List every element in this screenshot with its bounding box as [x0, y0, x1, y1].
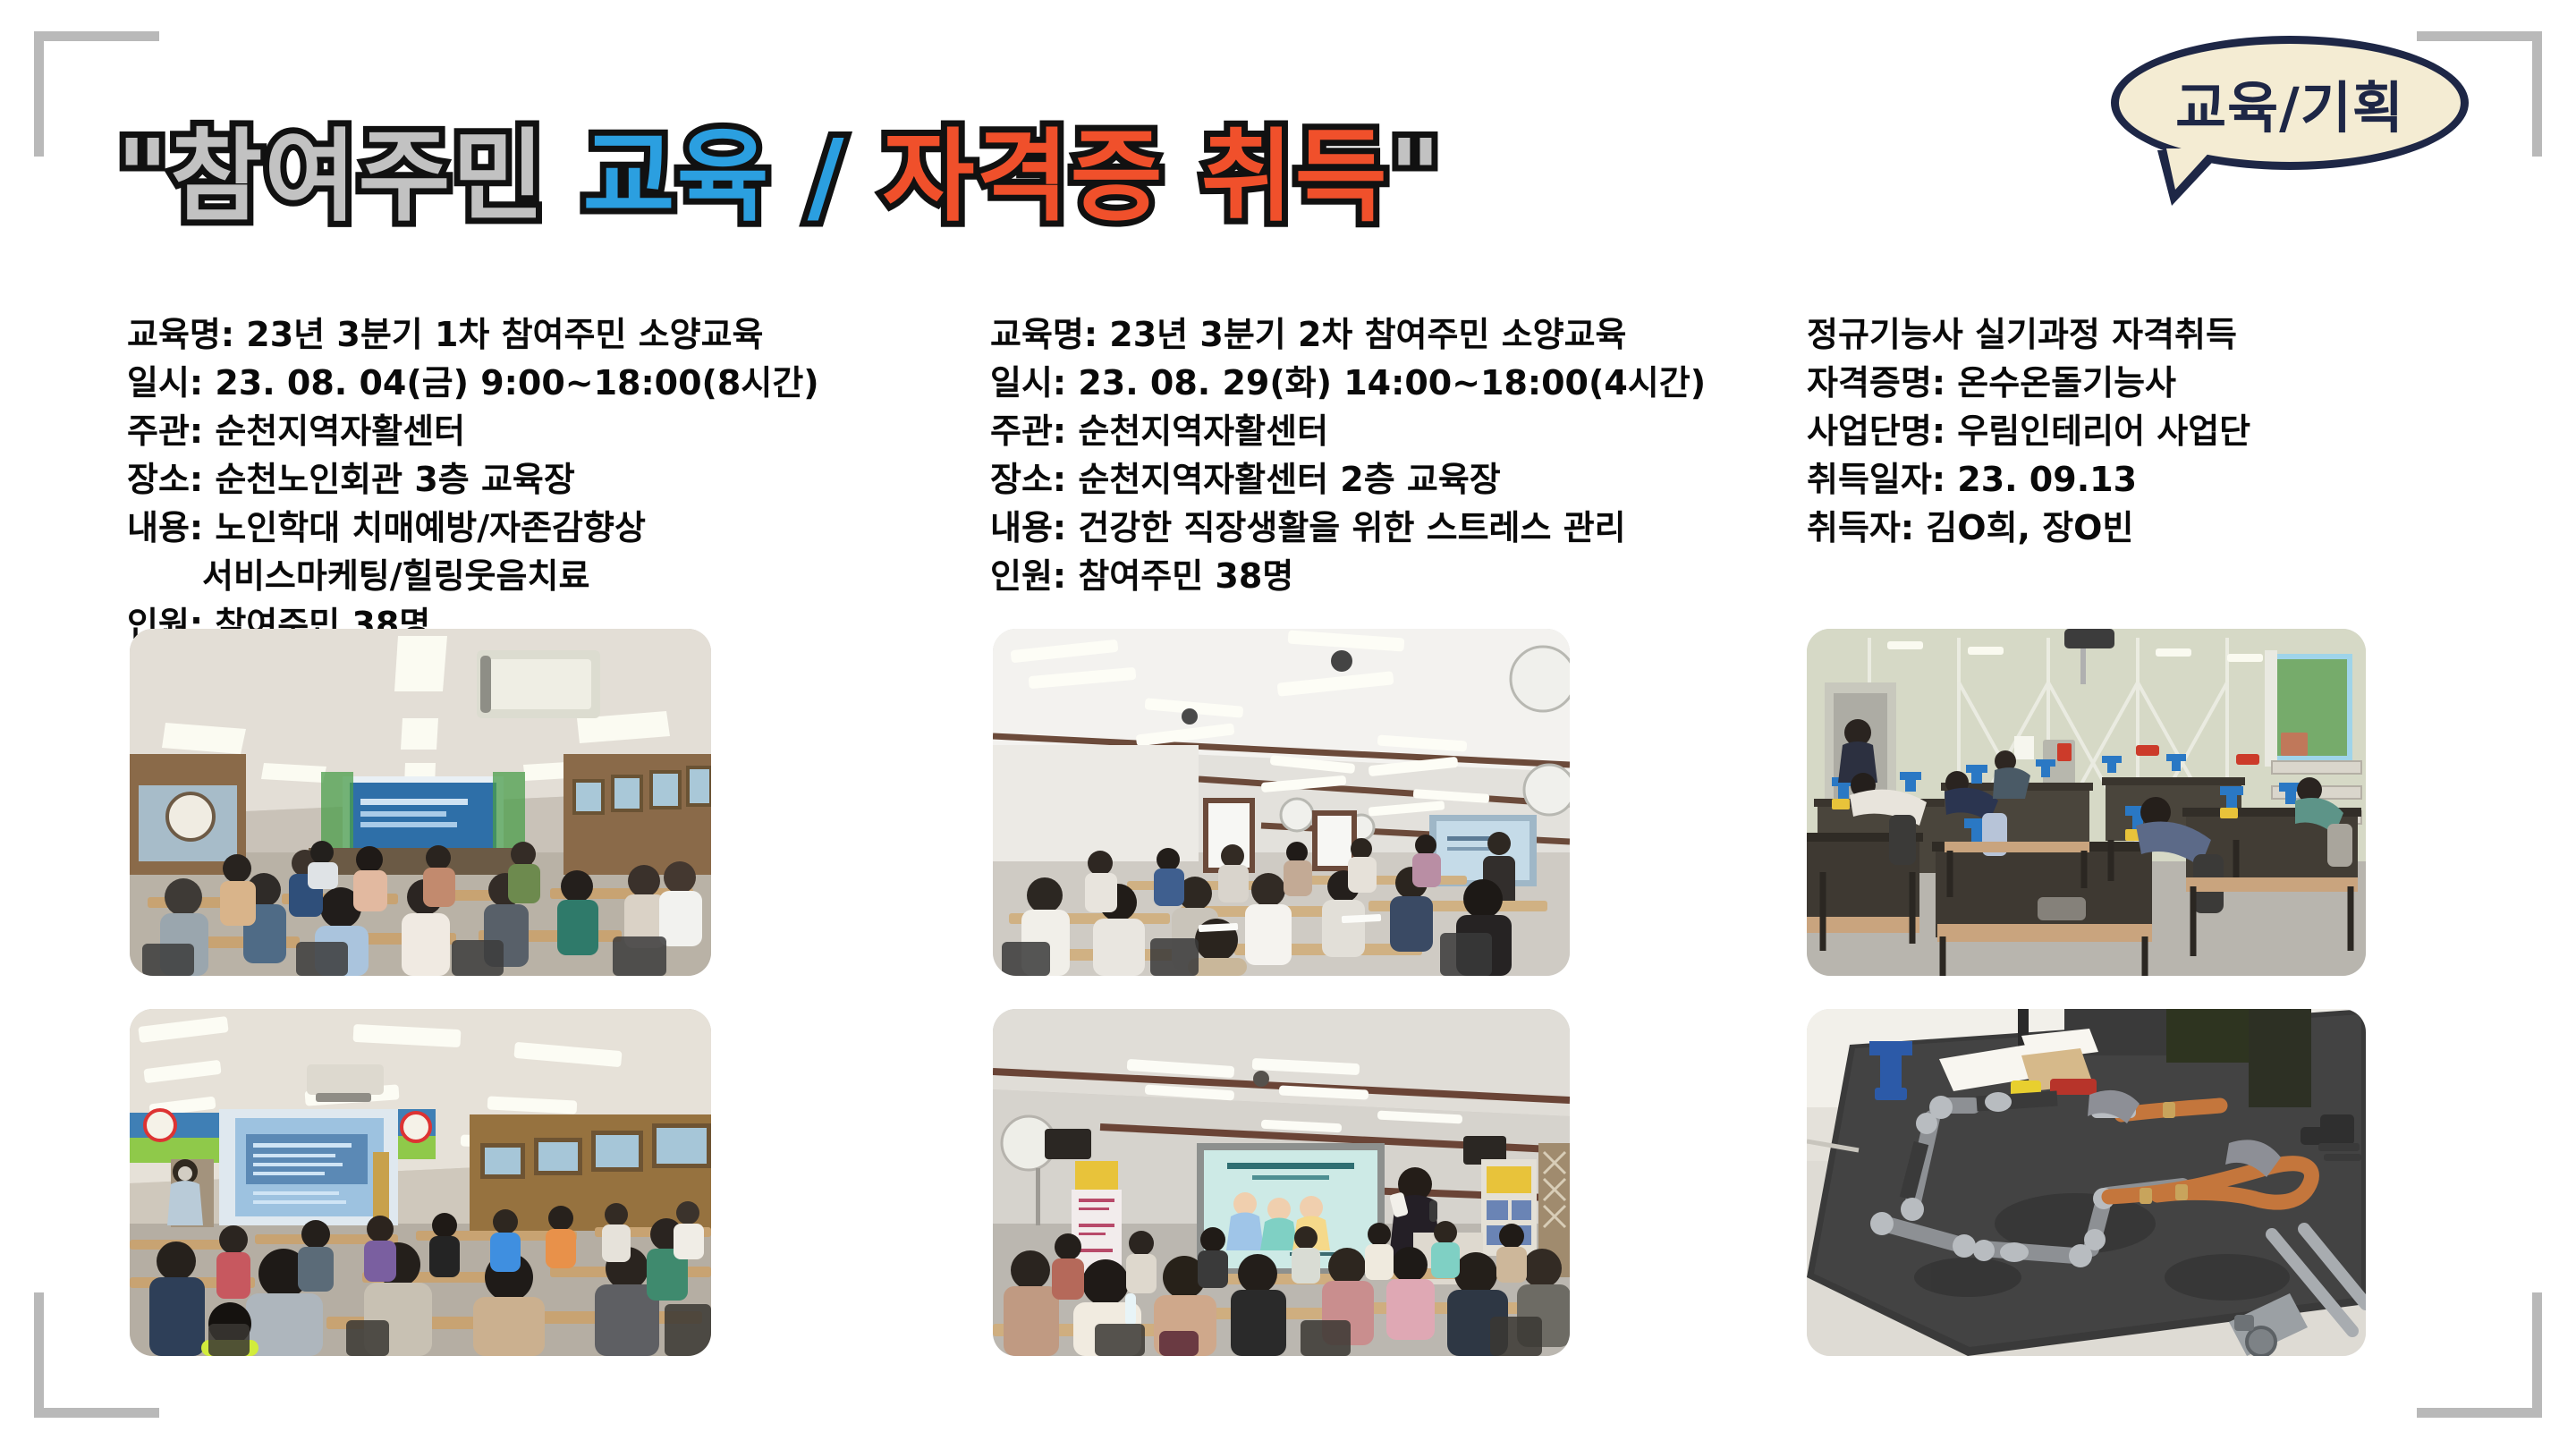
title-separator-slash: /	[808, 125, 846, 231]
info-line: 교육명: 23년 3분기 2차 참여주민 소양교육	[990, 311, 1795, 360]
info-block-column-2: 교육명: 23년 3분기 2차 참여주민 소양교육 일시: 23. 08. 29…	[990, 311, 1795, 601]
title-part-gray: 참여주민	[170, 125, 546, 231]
info-line: 주관: 순천지역자활센터	[990, 408, 1795, 456]
info-line: 주관: 순천지역자활센터	[127, 408, 932, 456]
info-line: 자격증명: 온수온돌기능사	[1807, 360, 2540, 408]
photo-classroom-lecture-wide	[130, 629, 711, 976]
info-line: 취득자: 김O희, 장O빈	[1807, 504, 2540, 553]
speech-bubble-tail-fill	[2166, 148, 2213, 190]
info-line: 취득일자: 23. 09.13	[1807, 456, 2540, 504]
slide-title: "참여주민 교육 / 자격증 취득"	[116, 125, 1443, 231]
title-part-blue: 교육	[583, 125, 771, 231]
info-line: 일시: 23. 08. 29(화) 14:00~18:00(4시간)	[990, 360, 1795, 408]
info-line: 장소: 순천지역자활센터 2층 교육장	[990, 456, 1795, 504]
info-line: 일시: 23. 08. 04(금) 9:00~18:00(8시간)	[127, 360, 932, 408]
info-line-continuation: 서비스마케팅/힐링웃음치료	[127, 553, 932, 601]
info-block-column-1: 교육명: 23년 3분기 1차 참여주민 소양교육 일시: 23. 08. 04…	[127, 311, 932, 649]
photo-stress-management-lecture	[993, 1009, 1570, 1356]
category-badge-label: 교육/기획	[2175, 63, 2404, 143]
info-line: 내용: 노인학대 치매예방/자존감향상	[127, 504, 932, 553]
category-badge: 교육/기획	[2111, 36, 2469, 206]
photo-pipe-fitting-practice	[1807, 1009, 2366, 1356]
info-line: 인원: 참여주민 38명	[990, 553, 1795, 601]
info-line: 교육명: 23년 3분기 1차 참여주민 소양교육	[127, 311, 932, 360]
info-line: 사업단명: 우림인테리어 사업단	[1807, 408, 2540, 456]
photo-practical-workshop-benches	[1807, 629, 2366, 976]
title-open-quote: "	[116, 125, 170, 231]
photo-training-room-ceiling-fans	[993, 629, 1570, 976]
title-part-red: 자격증 취득	[883, 125, 1389, 231]
speech-bubble: 교육/기획	[2111, 36, 2469, 170]
info-line: 장소: 순천노인회관 3층 교육장	[127, 456, 932, 504]
photo-classroom-lecture-rear	[130, 1009, 711, 1356]
info-block-column-3: 정규기능사 실기과정 자격취득 자격증명: 온수온돌기능사 사업단명: 우림인테…	[1807, 311, 2540, 553]
info-line: 정규기능사 실기과정 자격취득	[1807, 311, 2540, 360]
title-close-quote: "	[1389, 125, 1443, 231]
info-line: 내용: 건강한 직장생활을 위한 스트레스 관리	[990, 504, 1795, 553]
